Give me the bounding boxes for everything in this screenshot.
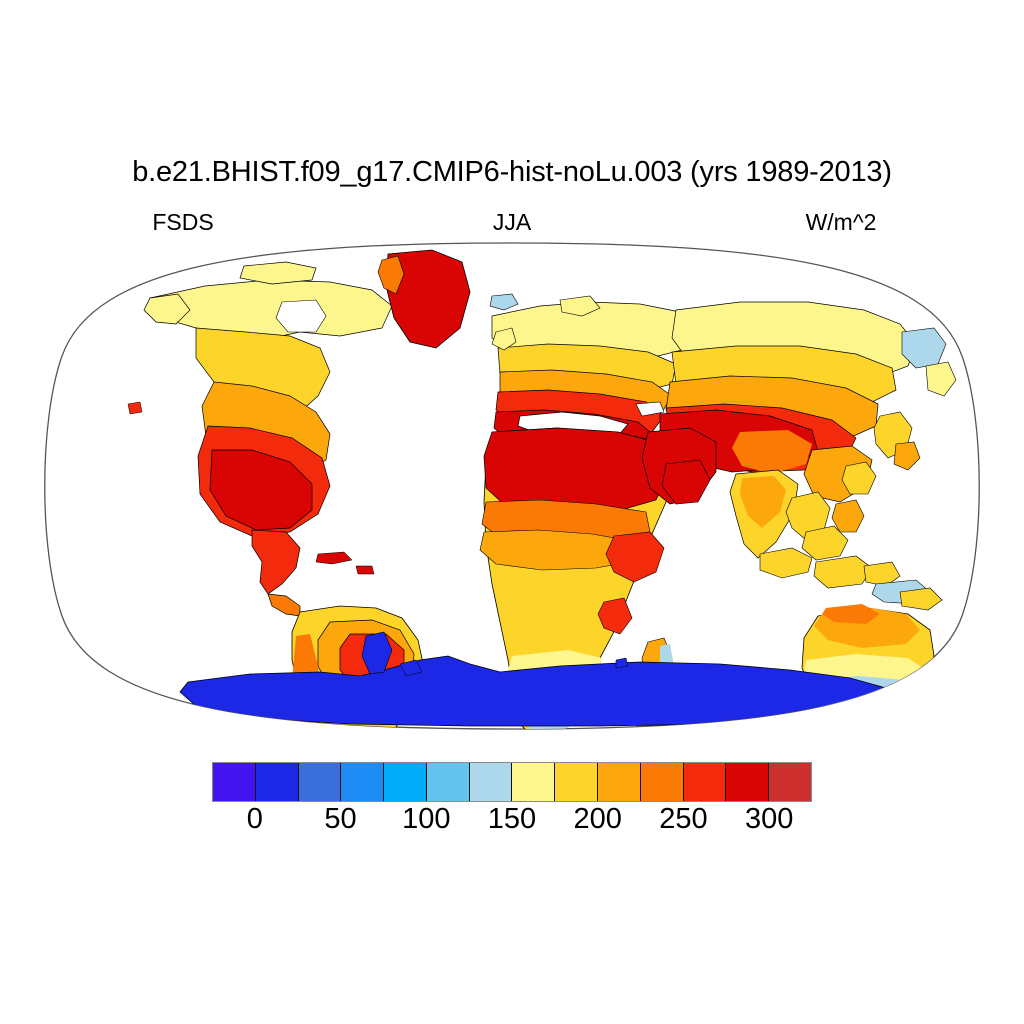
colorbar-swatch-5 <box>427 763 470 801</box>
colorbar-swatch-10 <box>641 763 684 801</box>
variable-label: FSDS <box>0 209 366 236</box>
colorbar-tick-200: 200 <box>574 803 622 836</box>
colorbar-tick-0: 0 <box>247 803 263 836</box>
colorbar-swatch-3 <box>341 763 384 801</box>
colorbar-tick-250: 250 <box>659 803 707 836</box>
colorbar-tick-50: 50 <box>324 803 356 836</box>
colorbar-swatch-2 <box>299 763 342 801</box>
colorbar-tick-300: 300 <box>745 803 793 836</box>
units-label: W/m^2 <box>658 209 1024 236</box>
colorbar-swatch-9 <box>598 763 641 801</box>
colorbar-swatch-0 <box>213 763 256 801</box>
page-title: b.e21.BHIST.f09_g17.CMIP6-hist-noLu.003 … <box>0 156 1024 189</box>
colorbar-tick-100: 100 <box>402 803 450 836</box>
season-label: JJA <box>366 209 658 236</box>
colorbar-swatch-6 <box>470 763 513 801</box>
colorbar-swatch-8 <box>555 763 598 801</box>
colorbar[interactable] <box>212 762 812 802</box>
figure-canvas: b.e21.BHIST.f09_g17.CMIP6-hist-noLu.003 … <box>0 0 1024 1024</box>
colorbar-tick-150: 150 <box>488 803 536 836</box>
colorbar-swatch-13 <box>769 763 811 801</box>
robinson-map <box>0 236 1024 736</box>
colorbar-swatch-7 <box>512 763 555 801</box>
colorbar-swatch-4 <box>384 763 427 801</box>
map-panel <box>0 236 1024 736</box>
colorbar-swatch-12 <box>726 763 769 801</box>
colorbar-swatch-1 <box>256 763 299 801</box>
colorbar-tick-labels: 050100150200250300 <box>212 803 812 849</box>
colorbar-swatch-11 <box>684 763 727 801</box>
